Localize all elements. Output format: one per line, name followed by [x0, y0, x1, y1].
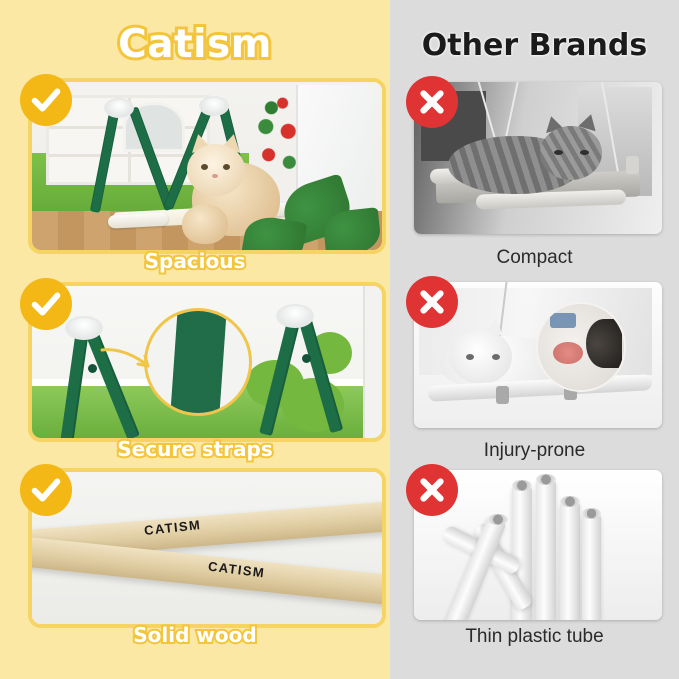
- catism-card-solid-wood: CATISM CATISM: [28, 468, 386, 628]
- catism-card-spacious: [28, 78, 386, 254]
- check-badge-secure-straps: [20, 278, 72, 330]
- check-icon: [29, 83, 63, 117]
- caption-injury-prone: Injury-prone: [390, 440, 679, 462]
- comparison-infographic: Catism: [0, 0, 679, 679]
- cross-icon: [415, 285, 449, 319]
- caption-secure-straps: Secure straps: [0, 437, 390, 461]
- caption-compact: Compact: [390, 247, 679, 269]
- zoom-arrow-icon: [100, 344, 156, 376]
- cross-icon: [415, 85, 449, 119]
- check-icon: [29, 287, 63, 321]
- other-brands-title: Other Brands: [390, 28, 679, 63]
- secure-straps-photo: [32, 286, 382, 438]
- check-badge-spacious: [20, 74, 72, 126]
- injury-zoom-inset: [538, 304, 624, 390]
- strap-zoom-inset: [144, 308, 252, 416]
- cross-badge-compact: [406, 76, 458, 128]
- solid-wood-photo: CATISM CATISM: [32, 472, 382, 624]
- cross-badge-thin-plastic-tube: [406, 464, 458, 516]
- caption-solid-wood: Solid wood: [0, 623, 390, 647]
- caption-spacious: Spacious: [0, 249, 390, 273]
- check-icon: [29, 473, 63, 507]
- cross-icon: [415, 473, 449, 507]
- spacious-photo: [32, 82, 382, 250]
- cross-badge-injury-prone: [406, 276, 458, 328]
- catism-title: Catism: [0, 22, 390, 67]
- catism-card-secure-straps: [28, 282, 386, 442]
- check-badge-solid-wood: [20, 464, 72, 516]
- caption-thin-plastic-tube: Thin plastic tube: [390, 626, 679, 648]
